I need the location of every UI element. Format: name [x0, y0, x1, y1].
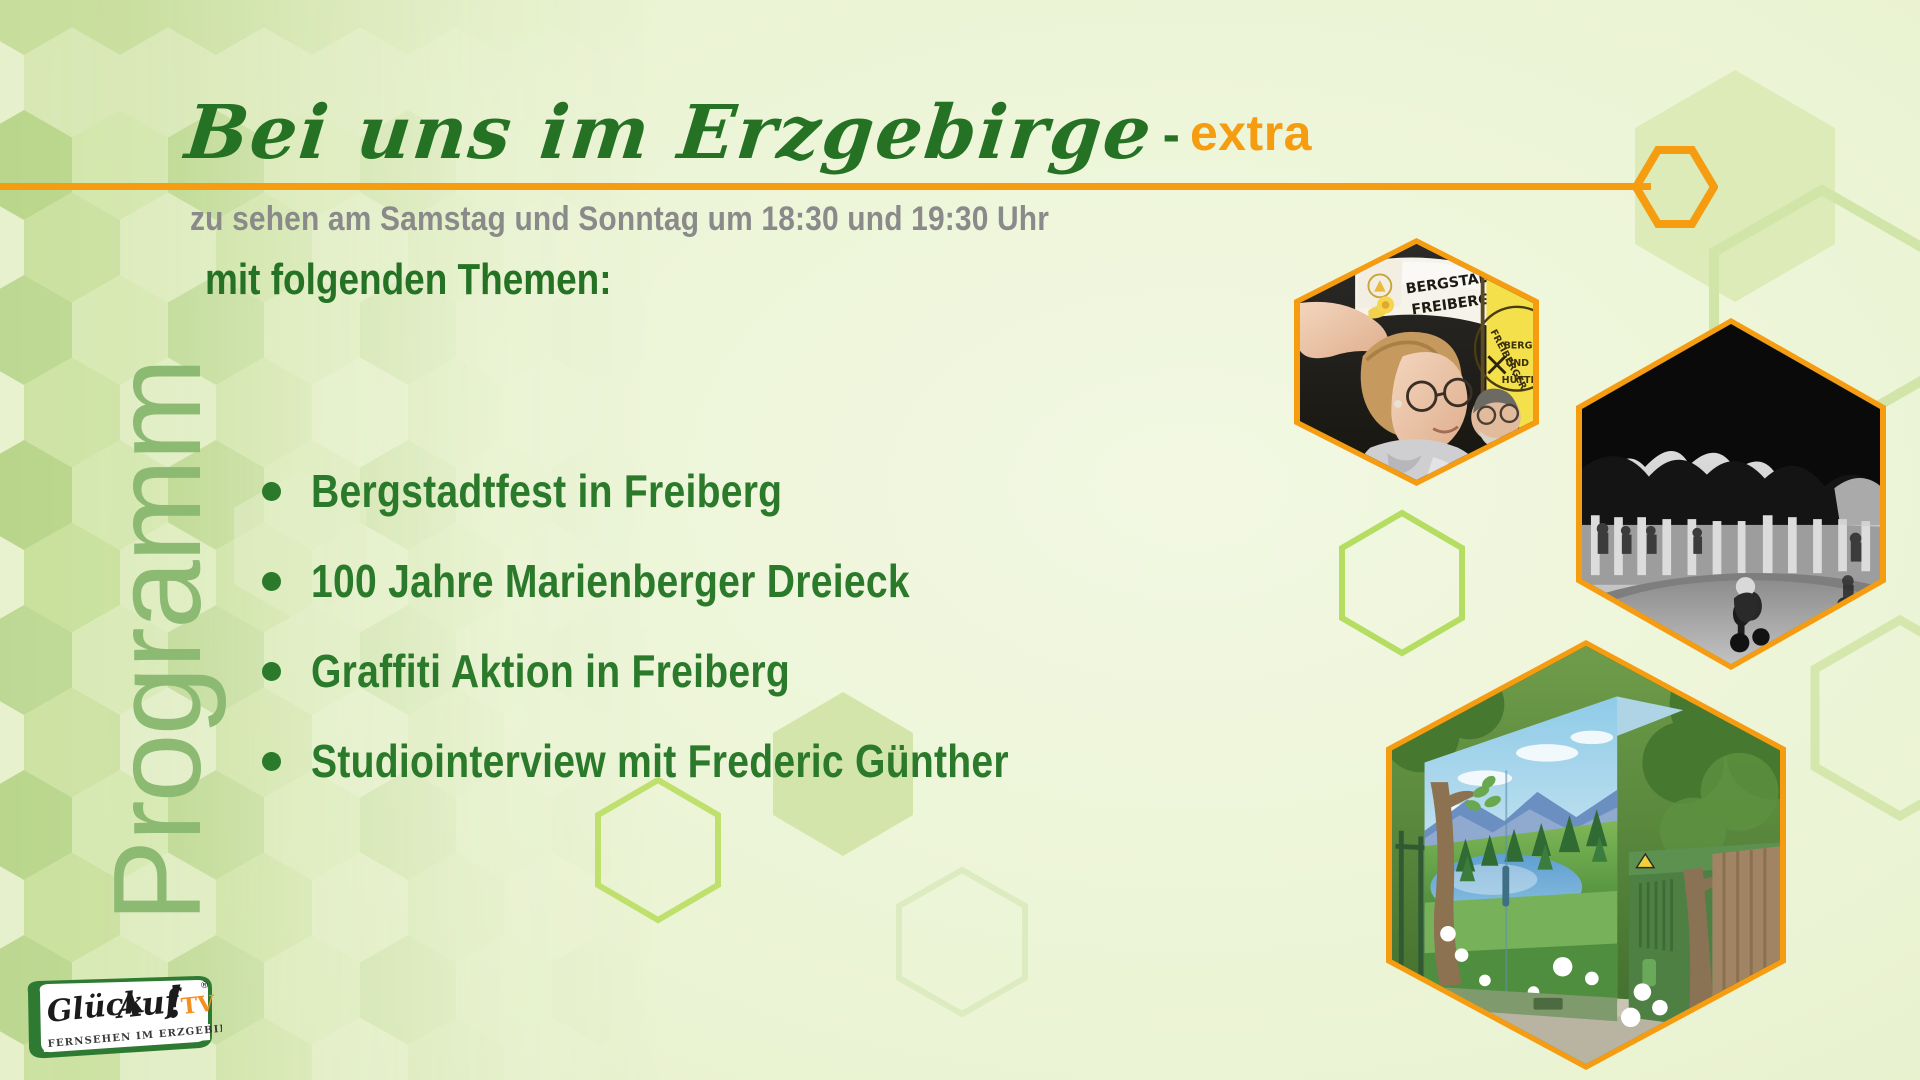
list-item: Bergstadtfest in Freiberg — [262, 446, 1132, 536]
title-extra-badge: extra — [1190, 105, 1312, 161]
orange-divider-line — [0, 183, 1651, 190]
list-item: Graffiti Aktion in Freiberg — [262, 626, 1132, 716]
logo-registered-mark: ® — [200, 981, 209, 991]
svg-text:BERG-: BERG- — [1504, 341, 1533, 352]
themes-intro-text: mit folgenden Themen: — [205, 255, 612, 305]
bullet-icon — [262, 482, 281, 501]
broadcast-schedule-text: zu sehen am Samstag und Sonntag um 18:30… — [190, 200, 1049, 239]
orange-hexagon-icon — [1632, 146, 1718, 228]
topic-label: Studiointerview mit Frederic Günther — [311, 734, 1009, 788]
svg-text:UND: UND — [1505, 358, 1529, 369]
topic-list: Bergstadtfest in Freiberg 100 Jahre Mari… — [262, 446, 1132, 806]
glueckauf-tv-logo[interactable]: Glück Auf ! TV ® FERNSEHEN IM ERZGEBIRGE — [22, 974, 222, 1062]
title-dash: - — [1153, 106, 1190, 164]
bullet-icon — [262, 572, 281, 591]
bergstadtfest-photo-inner: BERGSTADTFEST FREIBERG FREIBERGER BERG- … — [1300, 244, 1533, 480]
bullet-icon — [262, 662, 281, 681]
topic-label: 100 Jahre Marienberger Dreieck — [311, 554, 910, 608]
logo-tv-text: TV — [180, 991, 217, 1020]
svg-text:HÜTTEN: HÜTTEN — [1502, 375, 1533, 386]
page-title: Bei uns im Erzgebirge-extra — [186, 96, 1312, 170]
list-item: Studiointerview mit Frederic Günther — [262, 716, 1132, 806]
list-item: 100 Jahre Marienberger Dreieck — [262, 536, 1132, 626]
bullet-icon — [262, 752, 281, 771]
topic-label: Graffiti Aktion in Freiberg — [311, 644, 790, 698]
title-script-part: Bei uns im Erzgebirge — [182, 96, 1156, 170]
topic-label: Bergstadtfest in Freiberg — [311, 464, 782, 518]
program-slide: Bei uns im Erzgebirge-extra zu sehen am … — [0, 0, 1920, 1080]
